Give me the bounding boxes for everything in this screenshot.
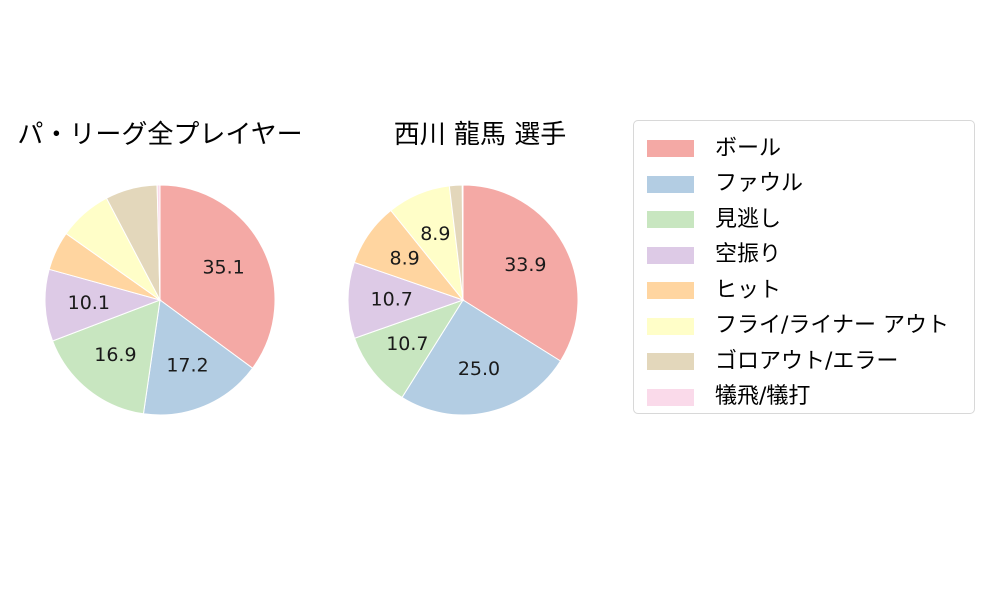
- pie-slice-label: 33.9: [504, 254, 546, 276]
- legend-swatch-icon: [647, 140, 694, 157]
- legend-swatch-icon: [647, 282, 694, 299]
- legend-item-label: ファウル: [715, 173, 803, 195]
- pie-chart-league: 35.117.216.910.1: [0, 0, 320, 600]
- legend-box: ボールファウル見逃し空振りヒットフライ/ライナー アウトゴロアウト/エラー犠飛/…: [633, 120, 975, 414]
- legend-swatch-icon: [647, 318, 694, 335]
- legend-swatch-icon: [647, 389, 694, 406]
- legend-item[interactable]: ボール: [634, 131, 974, 167]
- legend-swatch-icon: [647, 247, 694, 264]
- legend-item[interactable]: フライ/ライナー アウト: [634, 309, 974, 345]
- legend-item[interactable]: ファウル: [634, 167, 974, 203]
- legend-item[interactable]: ヒット: [634, 273, 974, 309]
- legend-item[interactable]: 空振り: [634, 238, 974, 274]
- legend-item[interactable]: ゴロアウト/エラー: [634, 344, 974, 380]
- legend-item-label: フライ/ライナー アウト: [715, 315, 949, 337]
- pie-panel-league: パ・リーグ全プレイヤー 35.117.216.910.1: [0, 0, 320, 600]
- pie-slice-label: 10.1: [68, 292, 110, 314]
- legend-item-label: 犠飛/犠打: [715, 386, 810, 408]
- pie-slice-label: 8.9: [420, 223, 450, 245]
- legend-item-label: 空振り: [715, 244, 781, 266]
- pie-slice-label: 10.7: [371, 289, 413, 311]
- legend-item-label: 見逃し: [715, 209, 781, 231]
- legend-item-label: ゴロアウト/エラー: [715, 351, 898, 373]
- legend-item-label: ボール: [715, 138, 781, 160]
- legend-swatch-icon: [647, 353, 694, 370]
- legend-item[interactable]: 見逃し: [634, 202, 974, 238]
- pie-panel-player: 西川 龍馬 選手 33.925.010.710.78.98.9: [320, 0, 640, 600]
- legend-swatch-icon: [647, 211, 694, 228]
- pie-slice-label: 16.9: [94, 344, 136, 366]
- legend-swatch-icon: [647, 176, 694, 193]
- chart-canvas: パ・リーグ全プレイヤー 35.117.216.910.1 西川 龍馬 選手 33…: [0, 0, 1000, 600]
- pie-chart-player: 33.925.010.710.78.98.9: [320, 0, 640, 600]
- pie-slice-label: 35.1: [202, 256, 244, 278]
- pie-slice-label: 8.9: [390, 248, 420, 270]
- pie-slice-label: 10.7: [386, 333, 428, 355]
- pie-slice-label: 17.2: [166, 354, 208, 376]
- legend-item[interactable]: 犠飛/犠打: [634, 380, 974, 416]
- pie-slice-label: 25.0: [458, 358, 500, 380]
- legend-item-label: ヒット: [715, 280, 781, 302]
